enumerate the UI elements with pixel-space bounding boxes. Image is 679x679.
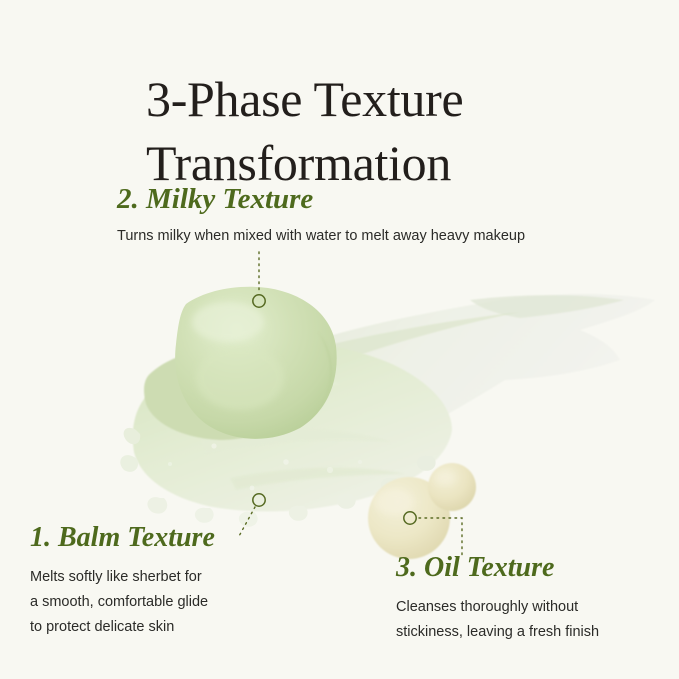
callout-oil-body: Cleanses thoroughly without stickiness, … <box>396 595 646 645</box>
callout-milky-title: 2. Milky Texture <box>117 185 637 214</box>
callout-milky-body: Turns milky when mixed with water to mel… <box>117 226 637 247</box>
callout-milky-texture: 2. Milky Texture Turns milky when mixed … <box>117 185 637 247</box>
callout-oil-body-line: Cleanses thoroughly without <box>396 595 646 620</box>
callout-oil-title: 3. Oil Texture <box>396 554 666 582</box>
callout-balm-title: 1. Balm Texture <box>30 524 320 552</box>
callout-balm-body: Melts softly like sherbet for a smooth, … <box>30 565 270 640</box>
page-title-line-1: 3-Phase Texture <box>146 67 626 131</box>
callout-balm-body-line: to protect delicate skin <box>30 615 270 640</box>
page-title: 3-Phase Texture Transformation <box>146 67 626 195</box>
callout-balm-body-line: Melts softly like sherbet for <box>30 565 270 590</box>
callout-balm-texture: 1. Balm Texture Melts softly like sherbe… <box>30 524 320 640</box>
texture-transformation-infographic: 3-Phase Texture Transformation 2. Milky … <box>0 0 679 679</box>
callout-oil-texture: 3. Oil Texture Cleanses thoroughly witho… <box>396 554 666 645</box>
callout-balm-body-line: a smooth, comfortable glide <box>30 590 270 615</box>
balm-dome-shape <box>175 287 337 439</box>
callout-oil-body-line: stickiness, leaving a fresh finish <box>396 620 646 645</box>
